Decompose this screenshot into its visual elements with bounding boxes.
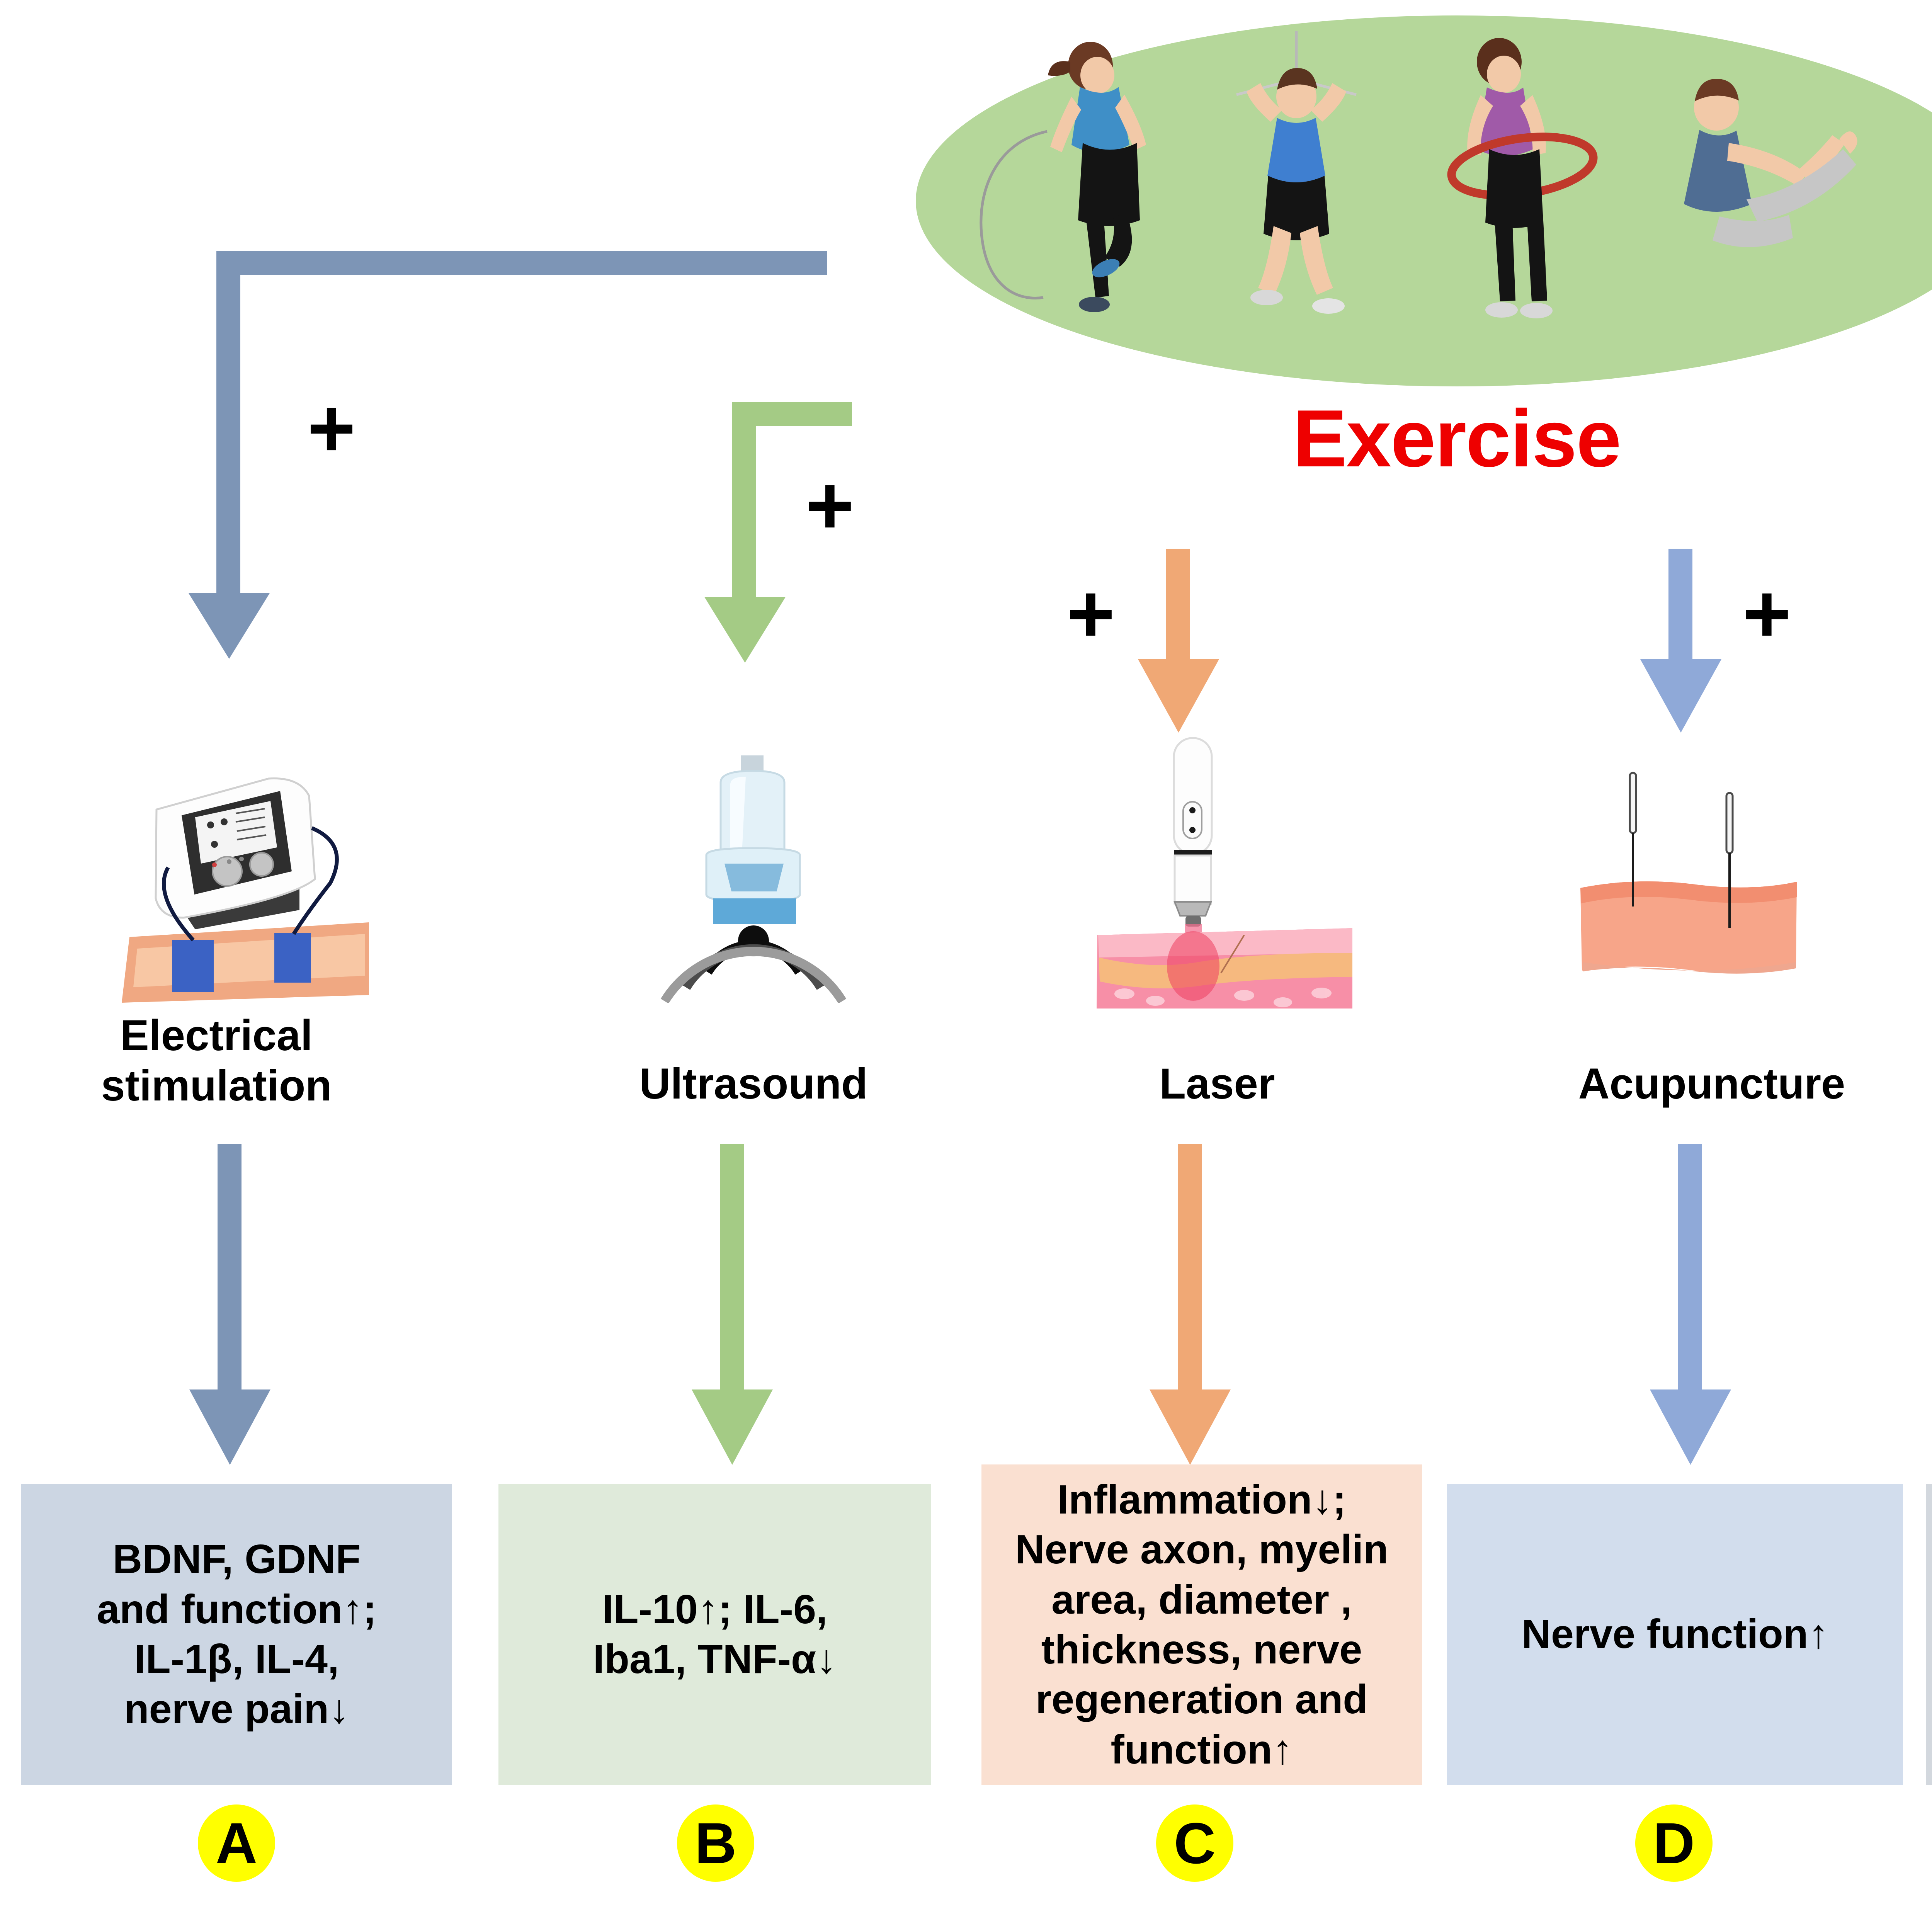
- modality-label-acupuncture: Acupuncture: [1542, 1059, 1882, 1109]
- outcome-arrow-laser: [1150, 1144, 1231, 1468]
- outcome-line: Nerve axon, myelin: [1015, 1525, 1388, 1575]
- panel-badge-D: D: [1635, 1804, 1713, 1882]
- modality-label-line1: Laser: [1066, 1059, 1368, 1109]
- outcome-arrow-acupuncture: [1650, 1144, 1731, 1468]
- v-sit-figure: [1684, 79, 1857, 247]
- outcome-box-C: Inflammation↓; Nerve axon, myelin area, …: [981, 1464, 1422, 1785]
- plus-sign-electrical-stimulation: +: [307, 386, 356, 469]
- panel-badge-A: A: [198, 1804, 275, 1882]
- exercise-title: Exercise: [916, 398, 1932, 479]
- panel-badge-C: C: [1156, 1804, 1233, 1882]
- modality-label-line1: Ultrasound: [595, 1059, 912, 1109]
- outcome-line: Inflammation↓;: [1015, 1475, 1388, 1525]
- diagram-canvas: Exercise + + + + + +: [0, 0, 1932, 1932]
- panel-badge-B: B: [677, 1804, 754, 1882]
- laser-pen-icon: [1082, 734, 1376, 1012]
- outcome-box-B: IL-10↑; IL-6, Iba1, TNF-α↓: [498, 1484, 931, 1785]
- outcome-arrow-electrical-stimulation: [189, 1144, 270, 1468]
- outcome-line: Nerve function↑: [1521, 1609, 1828, 1659]
- exercise-figures-svg: [916, 15, 1932, 386]
- plus-sign-laser: +: [1066, 572, 1115, 655]
- plus-sign-ultrasound: +: [806, 464, 854, 547]
- ultrasound-probe-icon: [618, 755, 889, 1003]
- modality-label-line1: Acupuncture: [1542, 1059, 1882, 1109]
- outcome-box-A: BDNF, GDNF and function↑; IL-1β, IL-4, n…: [21, 1484, 452, 1785]
- acupuncture-needles-icon: [1565, 753, 1859, 993]
- modality-label-line2: stimulation: [62, 1061, 371, 1111]
- hula-hoop-figure: [1448, 38, 1597, 318]
- outcome-line: IL-1β, IL-4,: [97, 1634, 376, 1684]
- outcome-line: IL-10↑; IL-6,: [593, 1585, 837, 1634]
- plus-sign-acupuncture: +: [1743, 572, 1791, 655]
- outcome-line: Iba1, TNF-α↓: [593, 1634, 837, 1684]
- outcome-line: nerve pain↓: [97, 1684, 376, 1734]
- outcome-line: BDNF, GDNF: [97, 1534, 376, 1584]
- modality-label-ultrasound: Ultrasound: [595, 1059, 912, 1109]
- outcome-box-E: Neuroregeneration and neurotrophic facto…: [1926, 1484, 1932, 1785]
- outcome-line: regeneration and: [1015, 1675, 1388, 1725]
- outcome-box-D: Nerve function↑: [1447, 1484, 1903, 1785]
- exercise-figures-group: [916, 15, 1932, 386]
- modality-label-laser: Laser: [1066, 1059, 1368, 1109]
- modality-label-line1: Electrical: [62, 1010, 371, 1061]
- outcome-line: thickness, nerve: [1015, 1625, 1388, 1675]
- modality-label-electrical-stimulation: Electrical stimulation: [62, 1010, 371, 1111]
- outcome-line: and function↑;: [97, 1585, 376, 1634]
- connector-arrow-laser: [1138, 549, 1219, 703]
- connector-arrow-acupuncture: [1640, 549, 1721, 703]
- jump-rope-figure: [981, 42, 1146, 312]
- pull-up-figure: [1236, 31, 1356, 314]
- tens-device-icon: [99, 755, 408, 1003]
- outcome-line: area, diameter ,: [1015, 1575, 1388, 1625]
- outcome-line: function↑: [1015, 1725, 1388, 1775]
- outcome-arrow-ultrasound: [692, 1144, 773, 1468]
